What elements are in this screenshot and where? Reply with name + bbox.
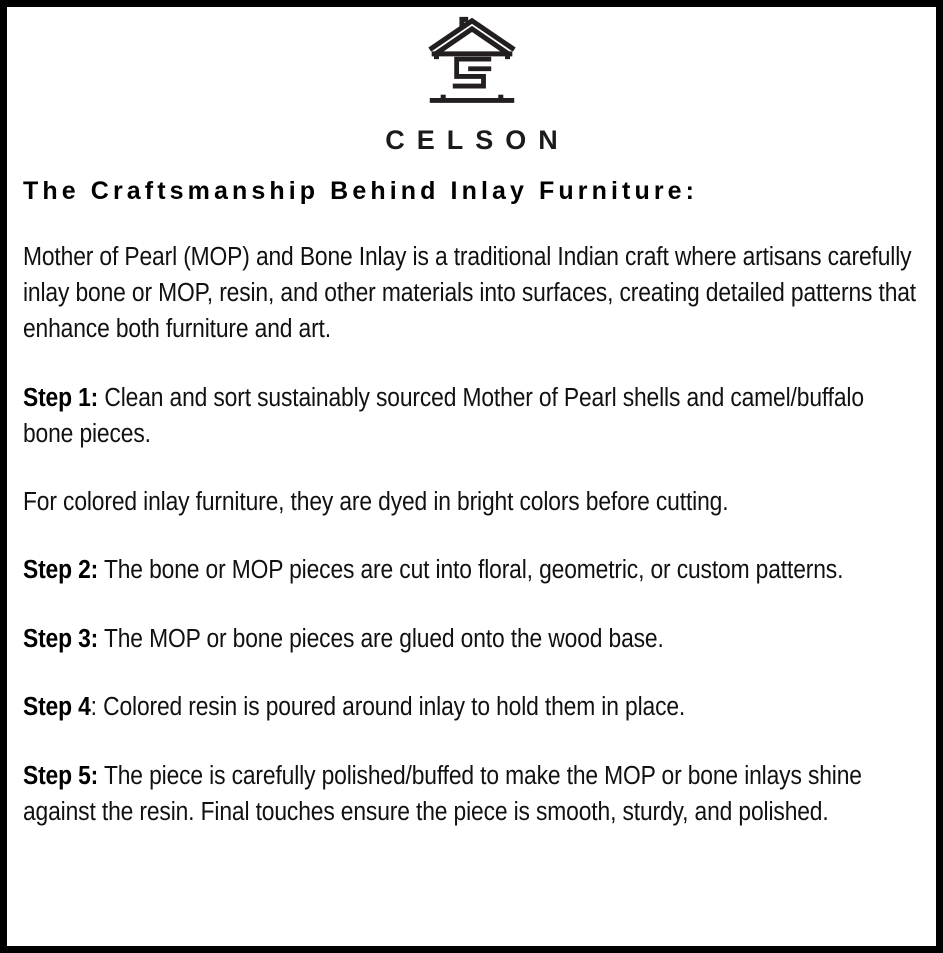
document-body: The Craftsmanship Behind Inlay Furniture… <box>7 178 936 830</box>
intro-paragraph: Mother of Pearl (MOP) and Bone Inlay is … <box>23 239 918 347</box>
step-3-text: The MOP or bone pieces are glued onto th… <box>98 625 664 653</box>
step-2-paragraph: Step 2: The bone or MOP pieces are cut i… <box>23 552 918 588</box>
step-4-label: Step 4 <box>23 693 91 721</box>
step-1-text: Clean and sort sustainably sourced Mothe… <box>23 384 864 448</box>
colored-inlay-note: For colored inlay furniture, they are dy… <box>23 484 918 520</box>
step-3-paragraph: Step 3: The MOP or bone pieces are glued… <box>23 621 918 657</box>
step-2-text: The bone or MOP pieces are cut into flor… <box>98 556 843 584</box>
house-monogram-logo-icon <box>424 15 520 111</box>
step-5-label: Step 5: <box>23 762 98 790</box>
step-1-paragraph: Step 1: Clean and sort sustainably sourc… <box>23 380 918 452</box>
page-title: The Craftsmanship Behind Inlay Furniture… <box>23 178 918 206</box>
step-5-paragraph: Step 5: The piece is carefully polished/… <box>23 758 918 830</box>
brand-wordmark: CELSON <box>7 127 936 154</box>
step-1-label: Step 1: <box>23 384 98 412</box>
step-4-paragraph: Step 4: Colored resin is poured around i… <box>23 689 918 725</box>
step-5-text: The piece is carefully polished/buffed t… <box>23 762 862 826</box>
brand-header: CELSON <box>7 7 936 154</box>
step-4-text: : Colored resin is poured around inlay t… <box>91 693 685 721</box>
poster-card: CELSON The Craftsmanship Behind Inlay Fu… <box>0 0 943 953</box>
step-2-label: Step 2: <box>23 556 98 584</box>
step-3-label: Step 3: <box>23 625 98 653</box>
